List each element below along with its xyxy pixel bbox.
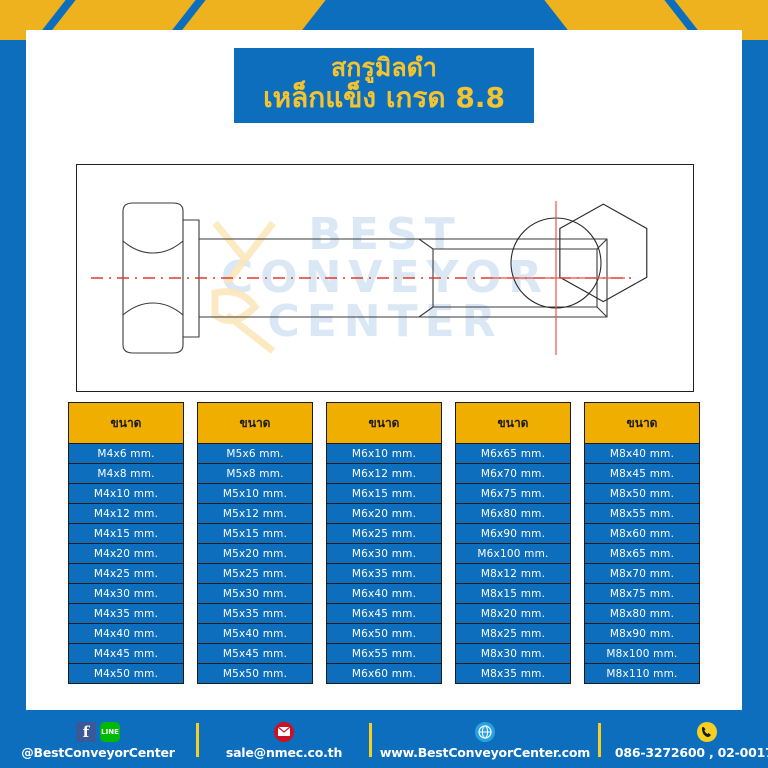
logo-watermark-icon bbox=[215, 223, 273, 351]
website-label: www.BestConveyorCenter.com bbox=[380, 745, 590, 760]
end-view-centerlines bbox=[489, 201, 625, 355]
table-row[interactable]: M6x25 mm. bbox=[326, 524, 442, 544]
table-row[interactable]: M6x35 mm. bbox=[326, 564, 442, 584]
table-row[interactable]: M8x55 mm. bbox=[584, 504, 700, 524]
line-icon[interactable]: LINE bbox=[100, 722, 120, 742]
table-row[interactable]: M6x50 mm. bbox=[326, 624, 442, 644]
content-card: สกรูมิลดำ เหล็กแข็ง เกรด 8.8 BEST CONVEY… bbox=[26, 30, 742, 710]
table-row[interactable]: M5x6 mm. bbox=[197, 444, 313, 464]
footer-website[interactable]: www.BestConveyorCenter.com bbox=[372, 721, 598, 760]
size-table-column-2: ขนาด M5x6 mm. M5x8 mm. M5x10 mm. M5x12 m… bbox=[197, 402, 313, 684]
column-header: ขนาด bbox=[584, 402, 700, 444]
table-row[interactable]: M8x45 mm. bbox=[584, 464, 700, 484]
table-row[interactable]: M6x100 mm. bbox=[455, 544, 571, 564]
table-row[interactable]: M6x75 mm. bbox=[455, 484, 571, 504]
table-row[interactable]: M6x65 mm. bbox=[455, 444, 571, 464]
table-row[interactable]: M8x40 mm. bbox=[584, 444, 700, 464]
table-row[interactable]: M5x12 mm. bbox=[197, 504, 313, 524]
column-header: ขนาด bbox=[197, 402, 313, 444]
table-row[interactable]: M4x12 mm. bbox=[68, 504, 184, 524]
table-row[interactable]: M8x60 mm. bbox=[584, 524, 700, 544]
table-row[interactable]: M8x90 mm. bbox=[584, 624, 700, 644]
table-row[interactable]: M8x12 mm. bbox=[455, 564, 571, 584]
footer-phone[interactable]: 086-3272600 , 02-0017766 bbox=[601, 721, 768, 760]
table-row[interactable]: M6x15 mm. bbox=[326, 484, 442, 504]
table-row[interactable]: M8x100 mm. bbox=[584, 644, 700, 664]
table-row[interactable]: M4x15 mm. bbox=[68, 524, 184, 544]
table-row[interactable]: M5x10 mm. bbox=[197, 484, 313, 504]
table-row[interactable]: M8x25 mm. bbox=[455, 624, 571, 644]
table-row[interactable]: M4x10 mm. bbox=[68, 484, 184, 504]
title-line-1: สกรูมิลดำ bbox=[234, 54, 534, 82]
table-row[interactable]: M8x75 mm. bbox=[584, 584, 700, 604]
email-icon[interactable] bbox=[274, 722, 294, 742]
table-row[interactable]: M5x15 mm. bbox=[197, 524, 313, 544]
email-label: sale@nmec.co.th bbox=[226, 745, 342, 760]
social-label: @BestConveyorCenter bbox=[21, 745, 174, 760]
table-row[interactable]: M4x20 mm. bbox=[68, 544, 184, 564]
page-title: สกรูมิลดำ เหล็กแข็ง เกรด 8.8 bbox=[234, 48, 534, 123]
table-row[interactable]: M8x70 mm. bbox=[584, 564, 700, 584]
table-row[interactable]: M8x35 mm. bbox=[455, 664, 571, 684]
table-row[interactable]: M4x40 mm. bbox=[68, 624, 184, 644]
footer-contact-bar: f LINE @BestConveyorCenter sale@nmec.co.… bbox=[0, 712, 768, 768]
table-row[interactable]: M5x25 mm. bbox=[197, 564, 313, 584]
table-row[interactable]: M5x50 mm. bbox=[197, 664, 313, 684]
globe-icon[interactable] bbox=[475, 722, 495, 742]
title-line-2: เหล็กแข็ง เกรด 8.8 bbox=[234, 82, 534, 113]
email-icon-wrap bbox=[274, 721, 294, 743]
phone-label: 086-3272600 , 02-0017766 bbox=[615, 745, 768, 760]
table-row[interactable]: M4x45 mm. bbox=[68, 644, 184, 664]
table-row[interactable]: M5x45 mm. bbox=[197, 644, 313, 664]
table-row[interactable]: M4x25 mm. bbox=[68, 564, 184, 584]
footer-email[interactable]: sale@nmec.co.th bbox=[199, 721, 369, 760]
phone-icon-wrap bbox=[697, 721, 717, 743]
facebook-icon[interactable]: f bbox=[76, 722, 96, 742]
table-row[interactable]: M6x55 mm. bbox=[326, 644, 442, 664]
table-row[interactable]: M6x12 mm. bbox=[326, 464, 442, 484]
table-row[interactable]: M8x15 mm. bbox=[455, 584, 571, 604]
table-row[interactable]: M5x30 mm. bbox=[197, 584, 313, 604]
social-icons: f LINE bbox=[76, 721, 120, 743]
table-row[interactable]: M8x50 mm. bbox=[584, 484, 700, 504]
table-row[interactable]: M6x60 mm. bbox=[326, 664, 442, 684]
table-row[interactable]: M4x35 mm. bbox=[68, 604, 184, 624]
column-header: ขนาด bbox=[68, 402, 184, 444]
hex-bolt-drawing bbox=[77, 165, 693, 391]
table-row[interactable]: M5x20 mm. bbox=[197, 544, 313, 564]
table-row[interactable]: M6x90 mm. bbox=[455, 524, 571, 544]
size-tables: ขนาด M4x6 mm. M4x8 mm. M4x10 mm. M4x12 m… bbox=[68, 402, 700, 684]
table-row[interactable]: M6x80 mm. bbox=[455, 504, 571, 524]
table-row[interactable]: M5x8 mm. bbox=[197, 464, 313, 484]
globe-icon-wrap bbox=[475, 721, 495, 743]
phone-icon[interactable] bbox=[697, 722, 717, 742]
table-row[interactable]: M6x10 mm. bbox=[326, 444, 442, 464]
table-row[interactable]: M6x45 mm. bbox=[326, 604, 442, 624]
size-table-column-3: ขนาด M6x10 mm. M6x12 mm. M6x15 mm. M6x20… bbox=[326, 402, 442, 684]
table-row[interactable]: M8x65 mm. bbox=[584, 544, 700, 564]
poster-page: สกรูมิลดำ เหล็กแข็ง เกรด 8.8 BEST CONVEY… bbox=[0, 0, 768, 768]
table-row[interactable]: M4x50 mm. bbox=[68, 664, 184, 684]
size-table-column-4: ขนาด M6x65 mm. M6x70 mm. M6x75 mm. M6x80… bbox=[455, 402, 571, 684]
table-row[interactable]: M5x35 mm. bbox=[197, 604, 313, 624]
column-header: ขนาด bbox=[455, 402, 571, 444]
table-row[interactable]: M6x20 mm. bbox=[326, 504, 442, 524]
table-row[interactable]: M8x20 mm. bbox=[455, 604, 571, 624]
table-row[interactable]: M4x8 mm. bbox=[68, 464, 184, 484]
table-row[interactable]: M4x6 mm. bbox=[68, 444, 184, 464]
table-row[interactable]: M6x40 mm. bbox=[326, 584, 442, 604]
footer-social[interactable]: f LINE @BestConveyorCenter bbox=[0, 721, 196, 760]
table-row[interactable]: M6x30 mm. bbox=[326, 544, 442, 564]
table-row[interactable]: M6x70 mm. bbox=[455, 464, 571, 484]
column-header: ขนาด bbox=[326, 402, 442, 444]
table-row[interactable]: M8x30 mm. bbox=[455, 644, 571, 664]
table-row[interactable]: M5x40 mm. bbox=[197, 624, 313, 644]
table-row[interactable]: M4x30 mm. bbox=[68, 584, 184, 604]
table-row[interactable]: M8x110 mm. bbox=[584, 664, 700, 684]
table-row[interactable]: M8x80 mm. bbox=[584, 604, 700, 624]
product-drawing-frame: BEST CONVEYOR CENTER bbox=[76, 164, 694, 392]
size-table-column-1: ขนาด M4x6 mm. M4x8 mm. M4x10 mm. M4x12 m… bbox=[68, 402, 184, 684]
size-table-column-5: ขนาด M8x40 mm. M8x45 mm. M8x50 mm. M8x55… bbox=[584, 402, 700, 684]
